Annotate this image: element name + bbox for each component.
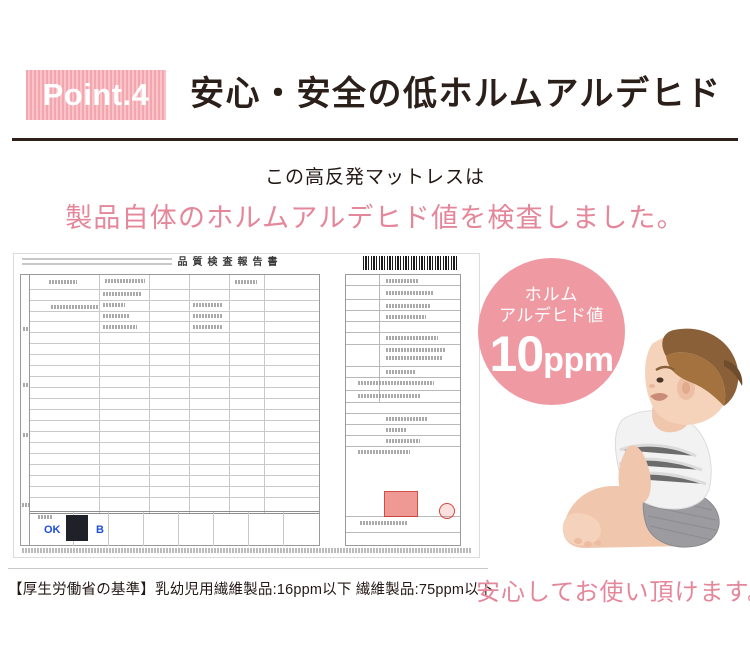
footer-divider — [8, 568, 488, 569]
point-badge-label: Point.4 — [43, 79, 150, 110]
ppm-value-group: 10 ppm — [490, 329, 614, 379]
ppm-unit: ppm — [543, 343, 613, 377]
section-header: Point.4 安心・安全の低ホルムアルデヒド — [0, 62, 750, 130]
ppm-badge-line-1: ホルム — [525, 284, 579, 305]
header-divider — [12, 138, 738, 141]
document-disclaimer-text — [22, 548, 472, 553]
document-left-panel: OK B — [20, 274, 320, 546]
round-seal-stamp — [439, 503, 455, 519]
red-approval-stamp — [384, 491, 418, 517]
ok-stamp-label: OK — [44, 524, 61, 536]
subtitle-line-2: 製品自体のホルムアルデヒド値を検査しました。 — [0, 196, 750, 235]
point-number-badge: Point.4 — [26, 70, 166, 120]
ministry-standards-text: 【厚生労働省の基準】乳幼児用繊維製品:16ppm以下 繊維製品:75ppm以下 — [8, 578, 494, 599]
page-title: 安心・安全の低ホルムアルデヒド — [190, 66, 721, 122]
document-title: 品質検査報告書 — [140, 256, 320, 270]
document-footer-row: OK B — [30, 511, 319, 545]
formaldehyde-value-badge: ホルム アルデヒド値 10 ppm — [478, 258, 625, 405]
document-right-panel — [345, 274, 461, 546]
subtitle-line-1: この高反発マットレスは — [0, 162, 750, 189]
quality-inspection-report-image: 品質検査報告書 — [13, 253, 480, 558]
ppm-value: 10 — [490, 329, 544, 379]
barcode-icon — [363, 256, 459, 270]
reassurance-text: 安心してお使い頂けます。 — [476, 572, 750, 607]
ok-stamp-label-secondary: B — [96, 524, 104, 536]
redaction-block — [66, 515, 88, 541]
ppm-badge-line-2: アルデヒド値 — [499, 305, 604, 327]
